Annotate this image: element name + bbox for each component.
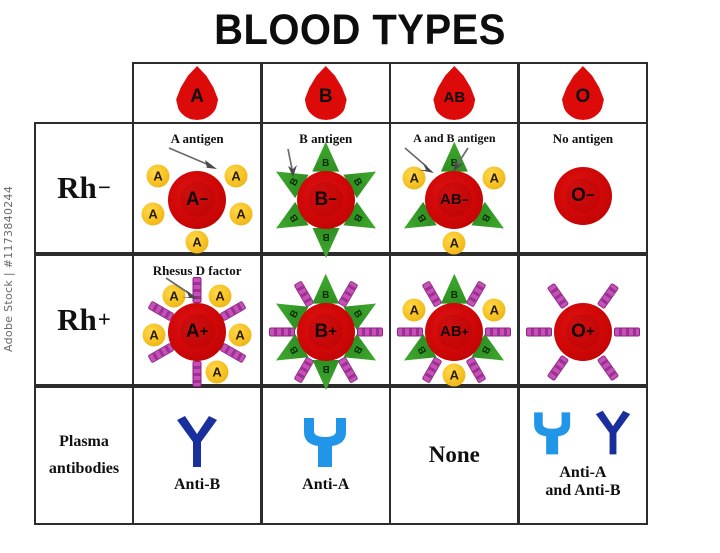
red-blood-cell-ab-positive: B B B A A A AB+ bbox=[398, 276, 510, 388]
header-cell-ab: AB bbox=[389, 62, 520, 124]
cell-plasma-a: Anti-B bbox=[132, 386, 263, 525]
red-blood-cell-o-negative: O− bbox=[527, 140, 639, 252]
antibody-caption: Anti-B bbox=[174, 476, 220, 494]
blood-drop-a: A bbox=[134, 64, 261, 122]
cell-o-positive: O+ bbox=[517, 254, 648, 386]
antibody-anti-a-icon bbox=[529, 406, 577, 460]
antigen-a-marker: A bbox=[142, 202, 165, 225]
rhesus-d-marker bbox=[526, 327, 552, 336]
rbc-body: A− bbox=[168, 171, 226, 229]
cell-ab-positive: B B B A A A AB+ bbox=[389, 254, 520, 386]
antibody-caption: Anti-A bbox=[302, 476, 349, 494]
antigen-a-marker: A bbox=[403, 298, 426, 321]
rbc-label: B− bbox=[297, 171, 355, 229]
antigen-b-marker: B bbox=[441, 274, 468, 304]
rbc-label: A− bbox=[168, 171, 226, 229]
blood-drop-label: A bbox=[176, 66, 218, 120]
rbc-body: A+ bbox=[168, 303, 226, 361]
red-blood-cell-b-positive: B B B B B B B+ bbox=[270, 276, 382, 388]
rbc-label: AB+ bbox=[425, 303, 483, 361]
table-row-plasma-antibodies: Plasma antibodies Anti-B bbox=[34, 386, 656, 525]
rh-label-text: Rh bbox=[57, 302, 97, 338]
antigen-caption: A and B antigen bbox=[391, 131, 518, 146]
antigen-a-marker: A bbox=[483, 298, 506, 321]
rhesus-d-marker bbox=[614, 327, 640, 336]
header-cell-b: B bbox=[260, 62, 391, 124]
rbc-label: B+ bbox=[297, 303, 355, 361]
row-label-rh-negative: Rh− bbox=[34, 122, 134, 254]
cell-ab-negative: A and B antigen B B B A A A AB− bbox=[389, 122, 520, 254]
rbc-label: O− bbox=[554, 167, 612, 225]
cell-plasma-o: Anti-A and Anti-B bbox=[517, 386, 648, 525]
rhesus-d-marker bbox=[485, 327, 511, 336]
antigen-a-marker: A bbox=[147, 164, 170, 187]
rh-label-text: Rh bbox=[57, 170, 97, 206]
blood-drop-label: B bbox=[305, 66, 347, 120]
antigen-caption: A antigen bbox=[134, 131, 261, 147]
red-blood-cell-ab-negative: B B B A A A AB− bbox=[398, 144, 510, 256]
antibody-caption-line1: Anti-A bbox=[545, 464, 620, 482]
blood-types-table: A B AB O bbox=[34, 62, 656, 527]
header-cell-a: A bbox=[132, 62, 263, 124]
antibody-anti-b-icon bbox=[169, 412, 225, 472]
rbc-body: B+ bbox=[297, 303, 355, 361]
cell-b-positive: B B B B B B B+ bbox=[260, 254, 391, 386]
rhesus-d-marker bbox=[357, 327, 383, 336]
rhesus-caption: Rhesus D factor bbox=[134, 263, 261, 279]
rbc-body: O− bbox=[554, 167, 612, 225]
table-header-row: A B AB O bbox=[34, 62, 656, 124]
antigen-caption: B antigen bbox=[262, 131, 389, 147]
cell-a-positive: Rhesus D factor A A A A A A+ bbox=[132, 254, 263, 386]
rbc-label: O+ bbox=[554, 303, 612, 361]
rhesus-d-marker bbox=[269, 327, 295, 336]
row-label-rh-positive: Rh+ bbox=[34, 254, 134, 386]
rbc-body: AB− bbox=[425, 171, 483, 229]
antigen-b-marker: B bbox=[312, 274, 339, 304]
antigen-a-marker: A bbox=[443, 231, 466, 254]
antigen-a-marker: A bbox=[443, 363, 466, 386]
rhesus-d-marker bbox=[397, 327, 423, 336]
antibody-caption-line2: and Anti-B bbox=[545, 482, 620, 500]
rbc-body: B− bbox=[297, 171, 355, 229]
antigen-a-marker: A bbox=[230, 202, 253, 225]
blood-drop-b: B bbox=[262, 64, 389, 122]
antigen-a-marker: A bbox=[483, 166, 506, 189]
cell-plasma-ab: None bbox=[389, 386, 520, 525]
antigen-b-marker: B bbox=[441, 142, 468, 172]
antigen-a-marker: A bbox=[186, 230, 209, 253]
blood-drop-o: O bbox=[519, 64, 646, 122]
antibody-caption: Anti-A and Anti-B bbox=[545, 464, 620, 501]
plasma-label-line2: antibodies bbox=[49, 460, 119, 478]
cell-plasma-b: Anti-A bbox=[260, 386, 391, 525]
antibody-anti-b-icon bbox=[589, 406, 637, 460]
watermark-text: Adobe Stock | #1173840244 bbox=[2, 142, 15, 352]
antibody-anti-a-icon bbox=[298, 412, 354, 472]
cell-a-negative: A antigen A A A A A A− bbox=[132, 122, 263, 254]
red-blood-cell-b-negative: B B B B B B B− bbox=[270, 144, 382, 256]
rhesus-d-marker bbox=[193, 361, 202, 387]
rbc-body: AB+ bbox=[425, 303, 483, 361]
antigen-a-marker: A bbox=[403, 166, 426, 189]
rbc-label: AB− bbox=[425, 171, 483, 229]
red-blood-cell-o-positive: O+ bbox=[527, 276, 639, 388]
antigen-caption: No antigen bbox=[519, 131, 646, 147]
page-title: BLOOD TYPES bbox=[25, 6, 695, 55]
antigen-a-marker: A bbox=[206, 360, 229, 383]
blood-drop-label: O bbox=[562, 66, 604, 120]
cell-b-negative: B antigen B B B B B B B− bbox=[260, 122, 391, 254]
blood-drop-label: AB bbox=[433, 66, 475, 120]
rbc-body: O+ bbox=[554, 303, 612, 361]
blood-drop-ab: AB bbox=[391, 64, 518, 122]
plasma-label-line1: Plasma bbox=[59, 433, 109, 451]
row-label-plasma: Plasma antibodies bbox=[34, 386, 134, 525]
red-blood-cell-a-positive: A A A A A A+ bbox=[141, 276, 253, 388]
antigen-a-marker: A bbox=[143, 323, 166, 346]
header-corner-cell bbox=[34, 62, 134, 124]
red-blood-cell-a-negative: A A A A A A− bbox=[141, 144, 253, 256]
table-row-rh-positive: Rh+ Rhesus D factor A A A A A bbox=[34, 254, 656, 386]
rhesus-d-marker bbox=[193, 277, 202, 303]
cell-o-negative: No antigen O− bbox=[517, 122, 648, 254]
header-cell-o: O bbox=[517, 62, 648, 124]
plasma-none-text: None bbox=[391, 388, 518, 523]
antigen-a-marker: A bbox=[225, 164, 248, 187]
antigen-a-marker: A bbox=[229, 323, 252, 346]
rbc-label: A+ bbox=[168, 303, 226, 361]
table-row-rh-negative: Rh− A antigen A A A A A A− B antige bbox=[34, 122, 656, 254]
